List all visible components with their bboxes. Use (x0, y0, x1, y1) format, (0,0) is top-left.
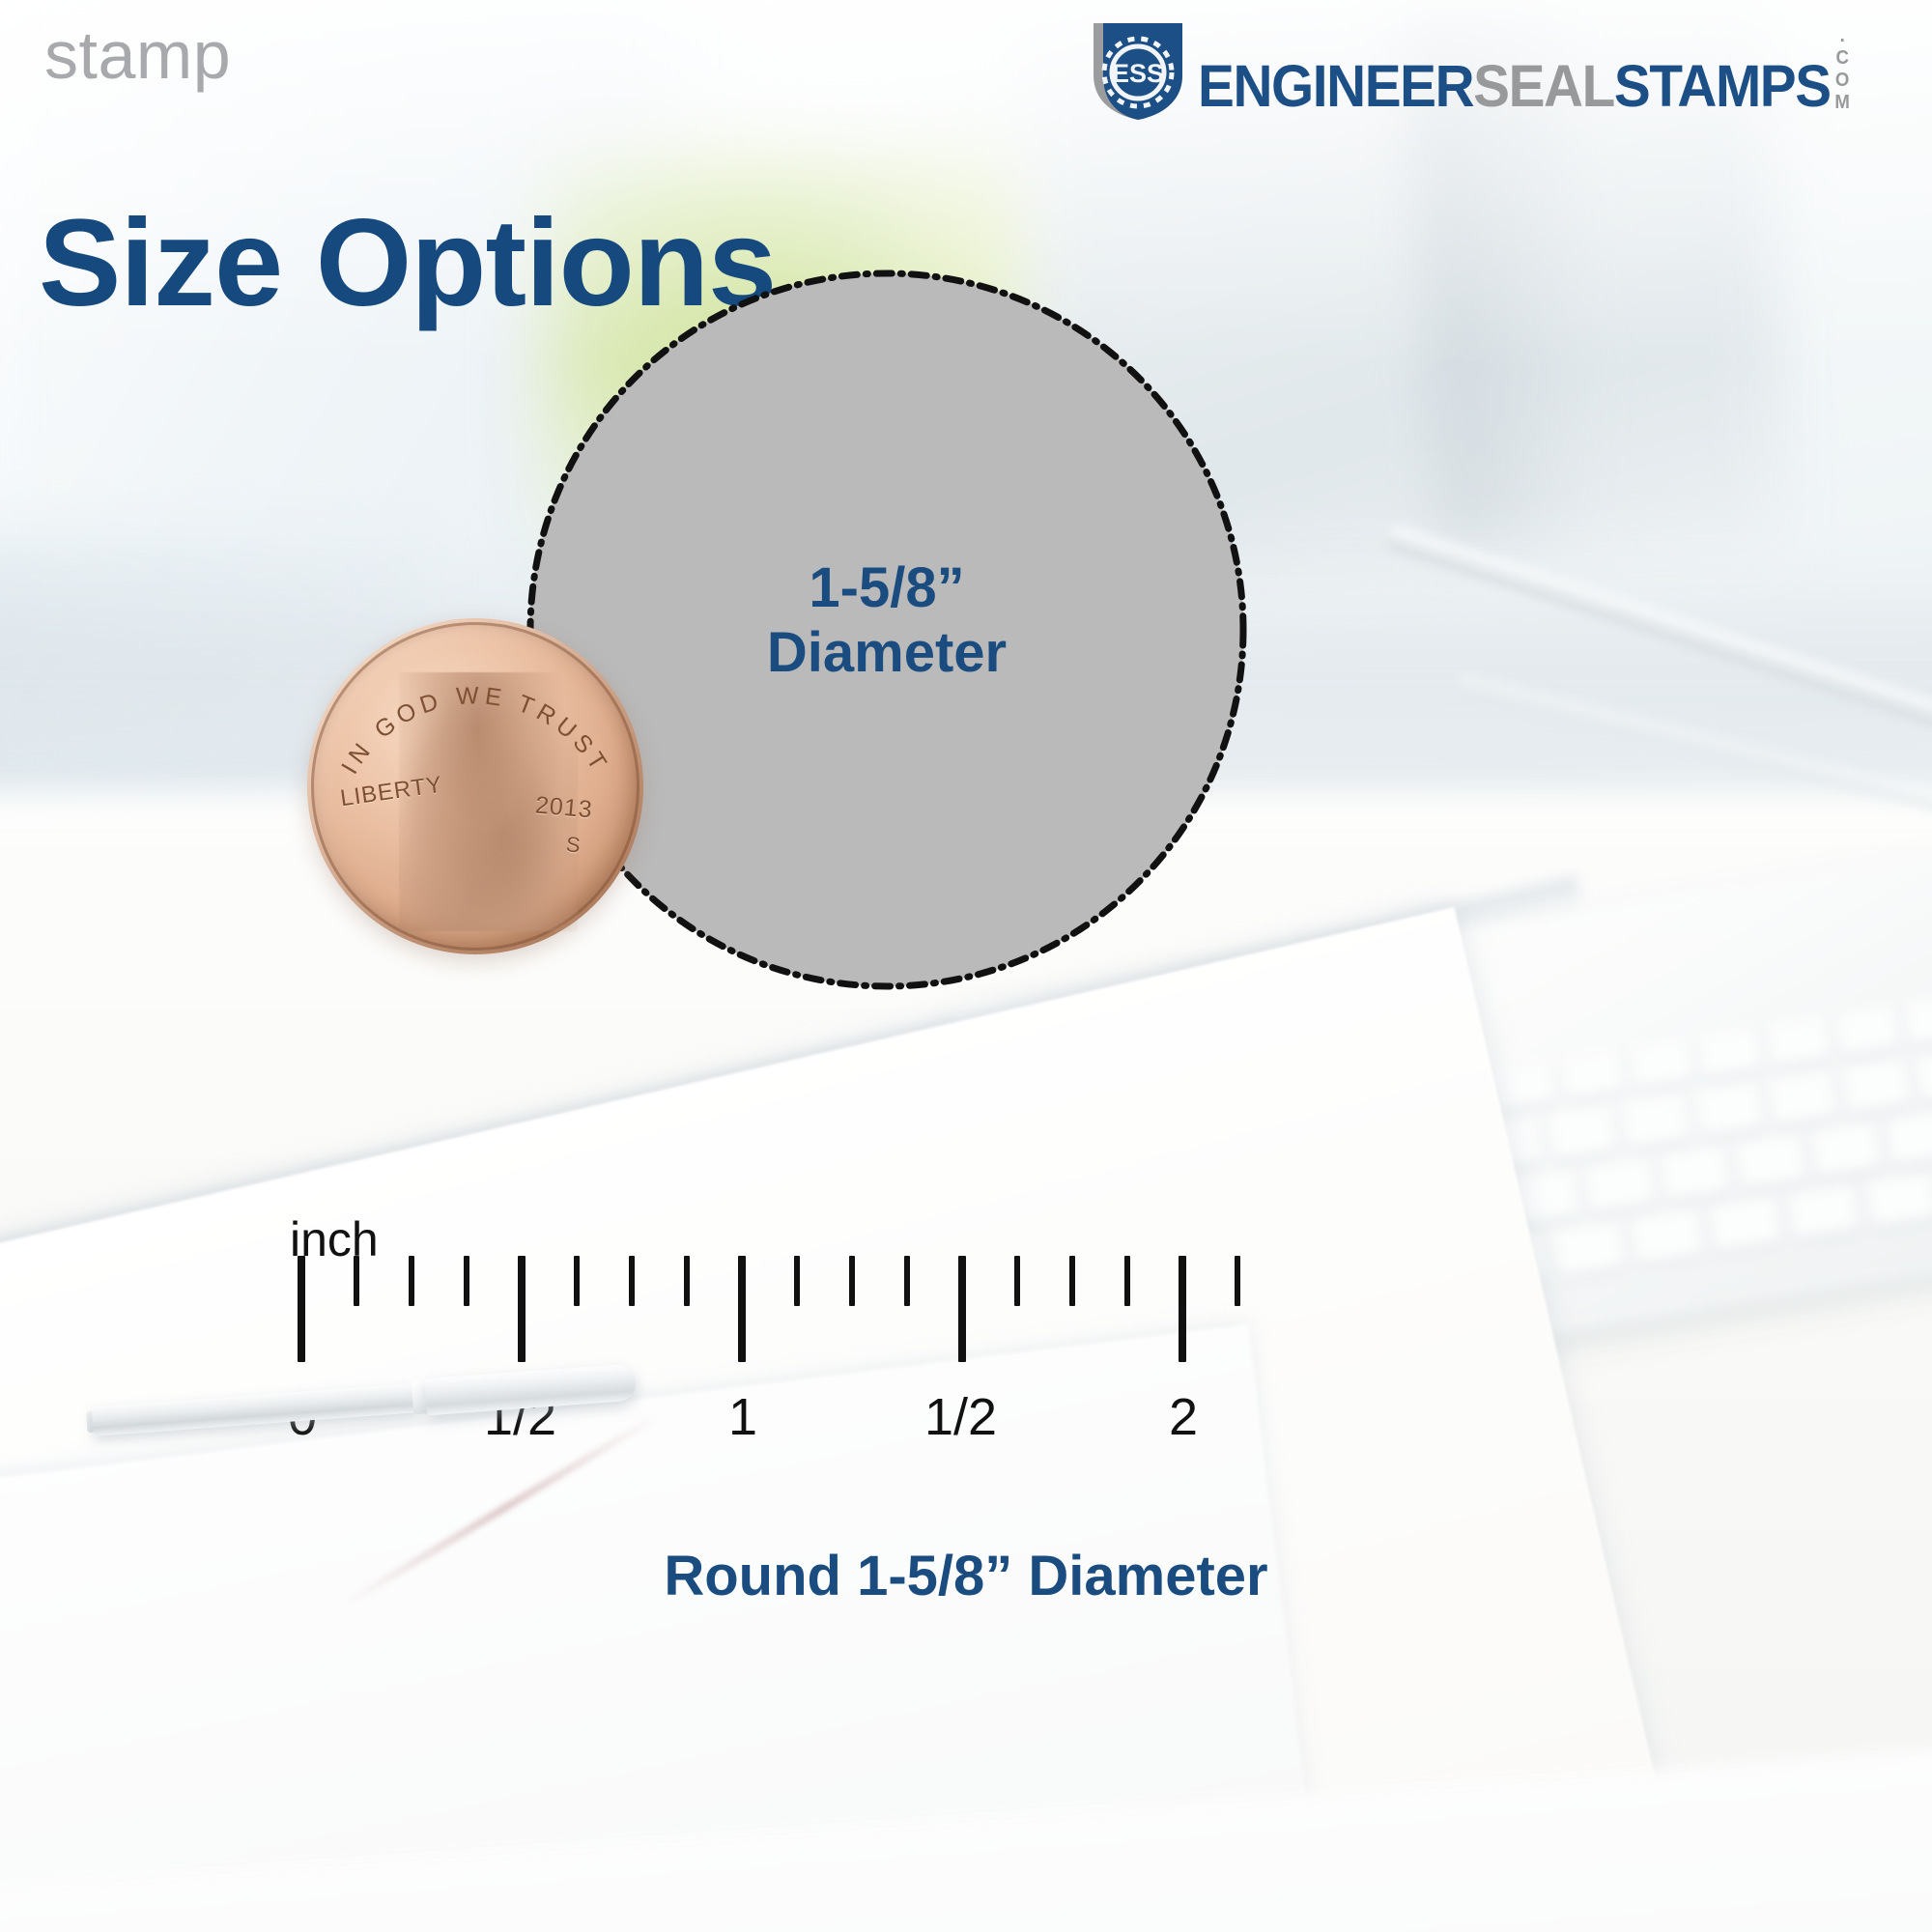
ess-shield-icon: ESS (1088, 19, 1188, 122)
ess-badge-text: ESS (1112, 59, 1164, 88)
ruler-tick-minor (794, 1256, 800, 1306)
penny-year-text: 2013 (534, 791, 594, 824)
eyebrow-label: stamp (44, 21, 231, 89)
ruler-tick-minor (1235, 1256, 1240, 1306)
penny-mint-mark: S (565, 832, 582, 858)
ruler-tick-minor (464, 1256, 469, 1306)
ruler-tick-major (1179, 1256, 1186, 1362)
keyboard-key (1768, 1071, 1838, 1127)
size-options-graphic: stamp Size Options ESS ENGINEERSEALSTAMP… (0, 0, 1932, 1932)
keyboard-key (1841, 1060, 1912, 1116)
keyboard-key (1621, 1094, 1691, 1151)
ruler-tick-minor (684, 1256, 690, 1306)
ruler-tick-minor (1014, 1256, 1020, 1306)
ruler-tick-minor (1124, 1256, 1130, 1306)
ruler-scale (290, 1256, 1198, 1381)
ruler-tick-minor (574, 1256, 580, 1306)
keyboard-key (1865, 1173, 1932, 1229)
ruler-tick-minor (409, 1256, 414, 1306)
logo-word-stamps: STAMPS (1614, 57, 1831, 116)
circle-diameter-value: 1-5/8” (530, 555, 1243, 620)
logo-tld: .COM (1833, 25, 1850, 114)
ruler-tick-major (738, 1256, 746, 1362)
ruler-label: 2 (1169, 1391, 1198, 1443)
keyboard-key (1548, 1106, 1618, 1162)
svg-text:IN GOD WE TRUST: IN GOD WE TRUST (336, 682, 614, 779)
ruler-tick-minor (354, 1256, 359, 1306)
logo-wordmark: ENGINEERSEALSTAMPS.COM (1198, 25, 1851, 116)
logo-word-seal: SEAL (1473, 57, 1614, 116)
ruler-label: 1/2 (924, 1391, 997, 1443)
logo-word-engineer: ENGINEER (1198, 57, 1473, 116)
bottom-caption: Round 1-5/8” Diameter (0, 1544, 1932, 1608)
ruler-tick-major (958, 1256, 966, 1362)
brand-logo[interactable]: ESS ENGINEERSEALSTAMPS.COM (1088, 17, 1899, 124)
ruler-tick-minor (904, 1256, 910, 1306)
penny-reference-coin: IN GOD WE TRUST LIBERTY 2013 S (307, 618, 643, 954)
ruler-tick-minor (629, 1256, 635, 1306)
ruler-label: 1 (728, 1391, 757, 1443)
ruler-tick-major (298, 1256, 305, 1362)
ruler-tick-minor (849, 1256, 855, 1306)
keyboard-key (1886, 1111, 1932, 1167)
keyboard-key (1694, 1083, 1765, 1139)
ruler-tick-major (518, 1256, 526, 1362)
ruler-tick-minor (1069, 1256, 1075, 1306)
